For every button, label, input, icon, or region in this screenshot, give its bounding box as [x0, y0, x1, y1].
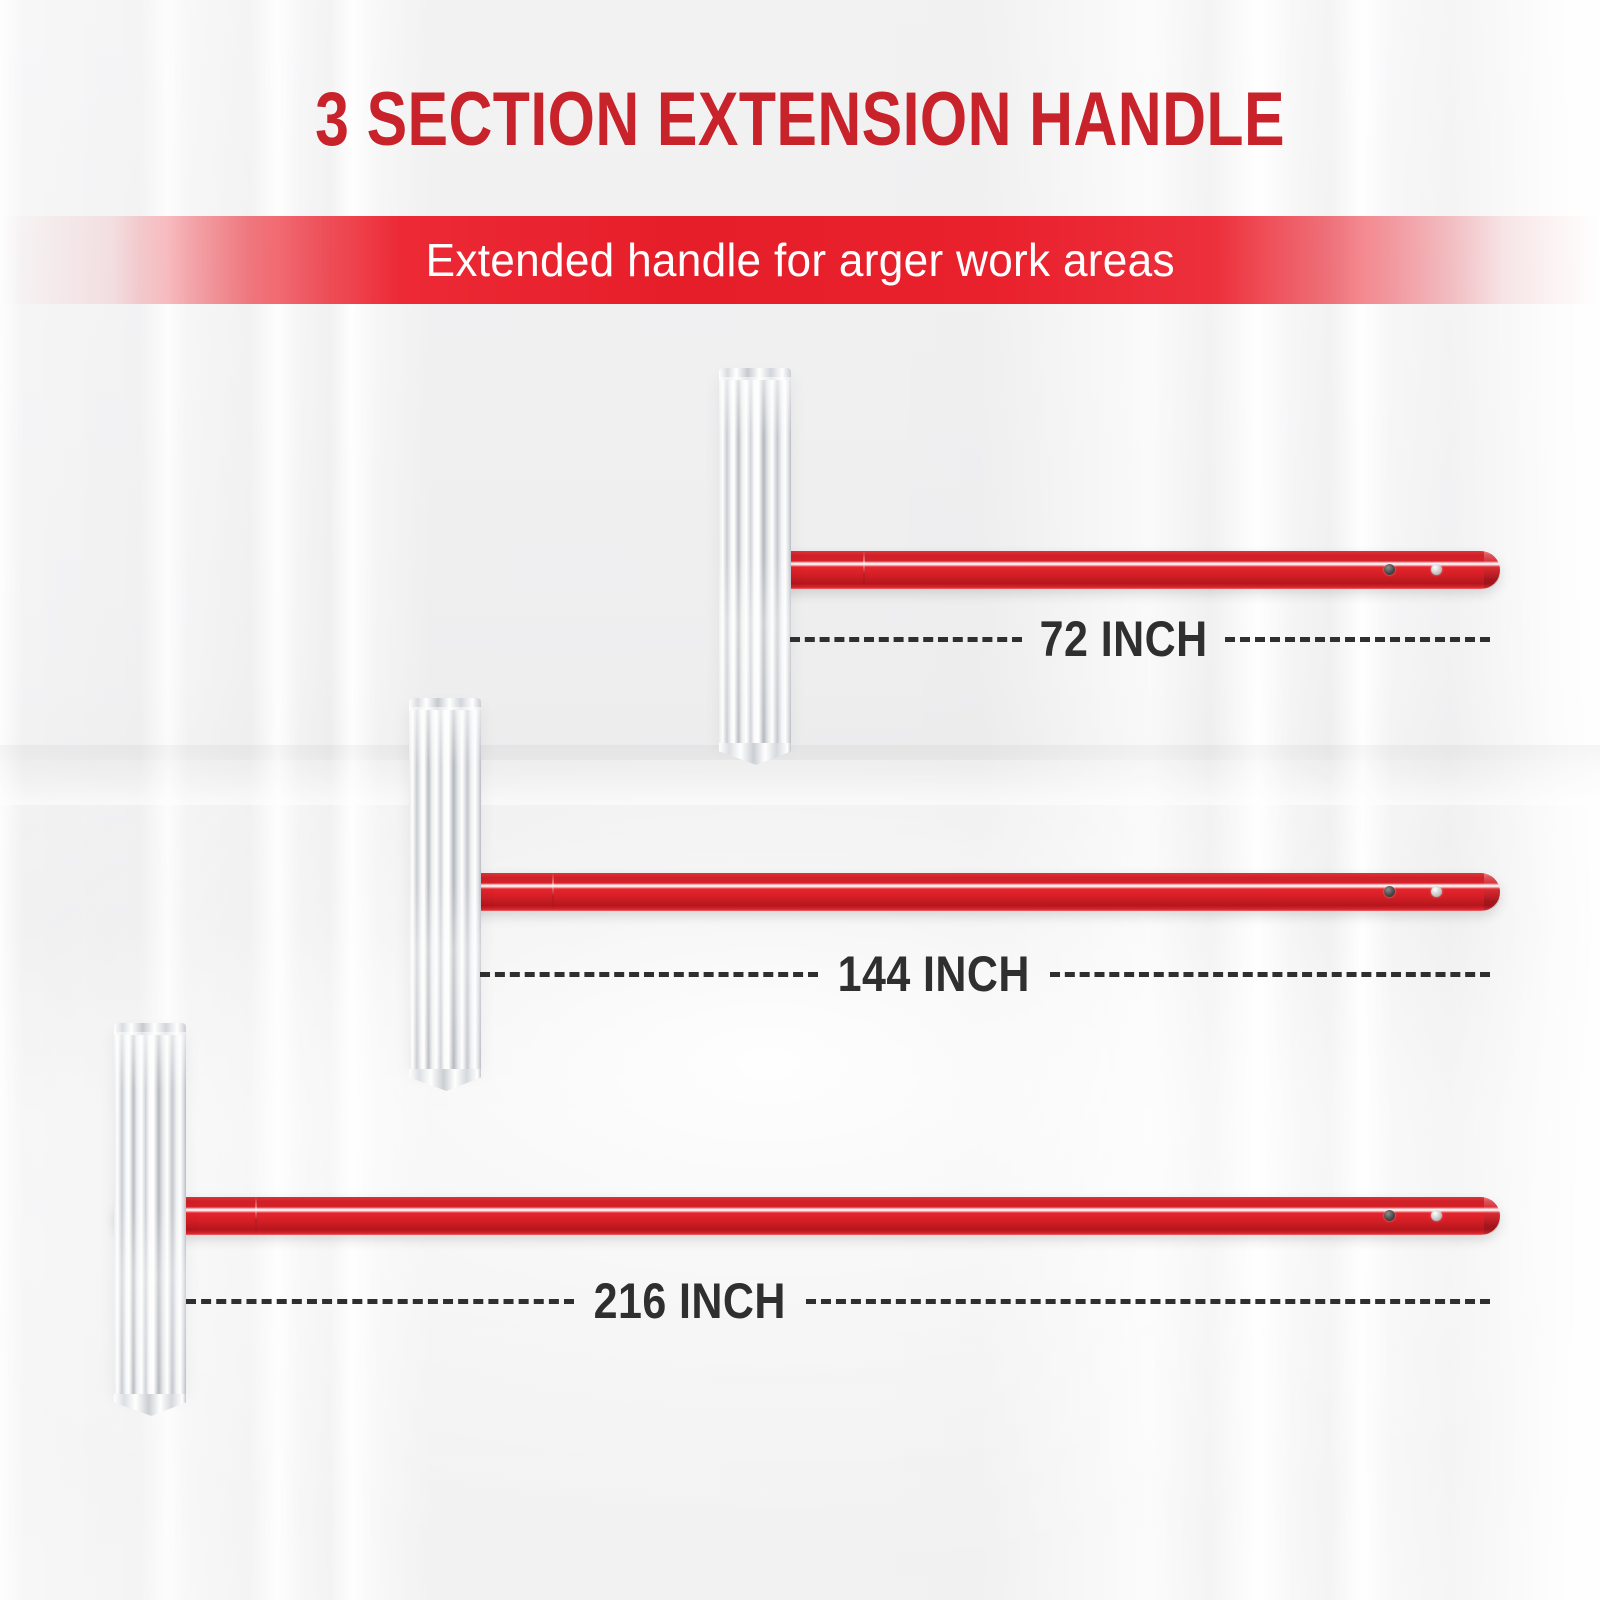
dimension-dash-left	[480, 972, 818, 977]
dimension-label-216: 216 INCH	[590, 1272, 789, 1330]
aluminum-post-144	[409, 707, 481, 1075]
dimension-label-144: 144 INCH	[834, 945, 1033, 1003]
bar-seam-icon	[863, 551, 865, 589]
product-infographic: 3 SECTION EXTENSION HANDLE Extended hand…	[0, 0, 1600, 1600]
bar-hole-icon	[1384, 1210, 1395, 1221]
dimension-dash-left	[186, 1299, 574, 1304]
aluminum-post-72	[719, 377, 791, 749]
dimension-row-72: 72 INCH	[790, 610, 1490, 668]
dimension-dash-left	[790, 637, 1022, 642]
aluminum-post-216	[114, 1032, 186, 1400]
post-sheen	[719, 377, 791, 749]
red-bar-144	[424, 873, 1500, 911]
bar-hole-icon	[1431, 564, 1442, 575]
red-bar-72	[735, 551, 1500, 589]
red-bar-216	[115, 1197, 1500, 1235]
bar-seam-icon	[255, 1197, 257, 1235]
dimension-label-72: 72 INCH	[1036, 610, 1211, 668]
post-sheen	[409, 707, 481, 1075]
dimension-dash-right	[1225, 637, 1490, 642]
subtitle-banner: Extended handle for arger work areas	[0, 216, 1600, 304]
bar-seam-icon	[552, 873, 554, 911]
bar-hole-icon	[1384, 886, 1395, 897]
page-title: 3 SECTION EXTENSION HANDLE	[160, 82, 1440, 158]
dimension-row-216: 216 INCH	[186, 1272, 1490, 1330]
subtitle-text: Extended handle for arger work areas	[425, 233, 1174, 287]
dimension-row-144: 144 INCH	[480, 945, 1490, 1003]
bar-hole-icon	[1431, 1210, 1442, 1221]
bar-hole-icon	[1384, 564, 1395, 575]
dimension-dash-right	[806, 1299, 1490, 1304]
post-sheen	[114, 1032, 186, 1400]
bar-hole-icon	[1431, 886, 1442, 897]
dimension-dash-right	[1050, 972, 1490, 977]
